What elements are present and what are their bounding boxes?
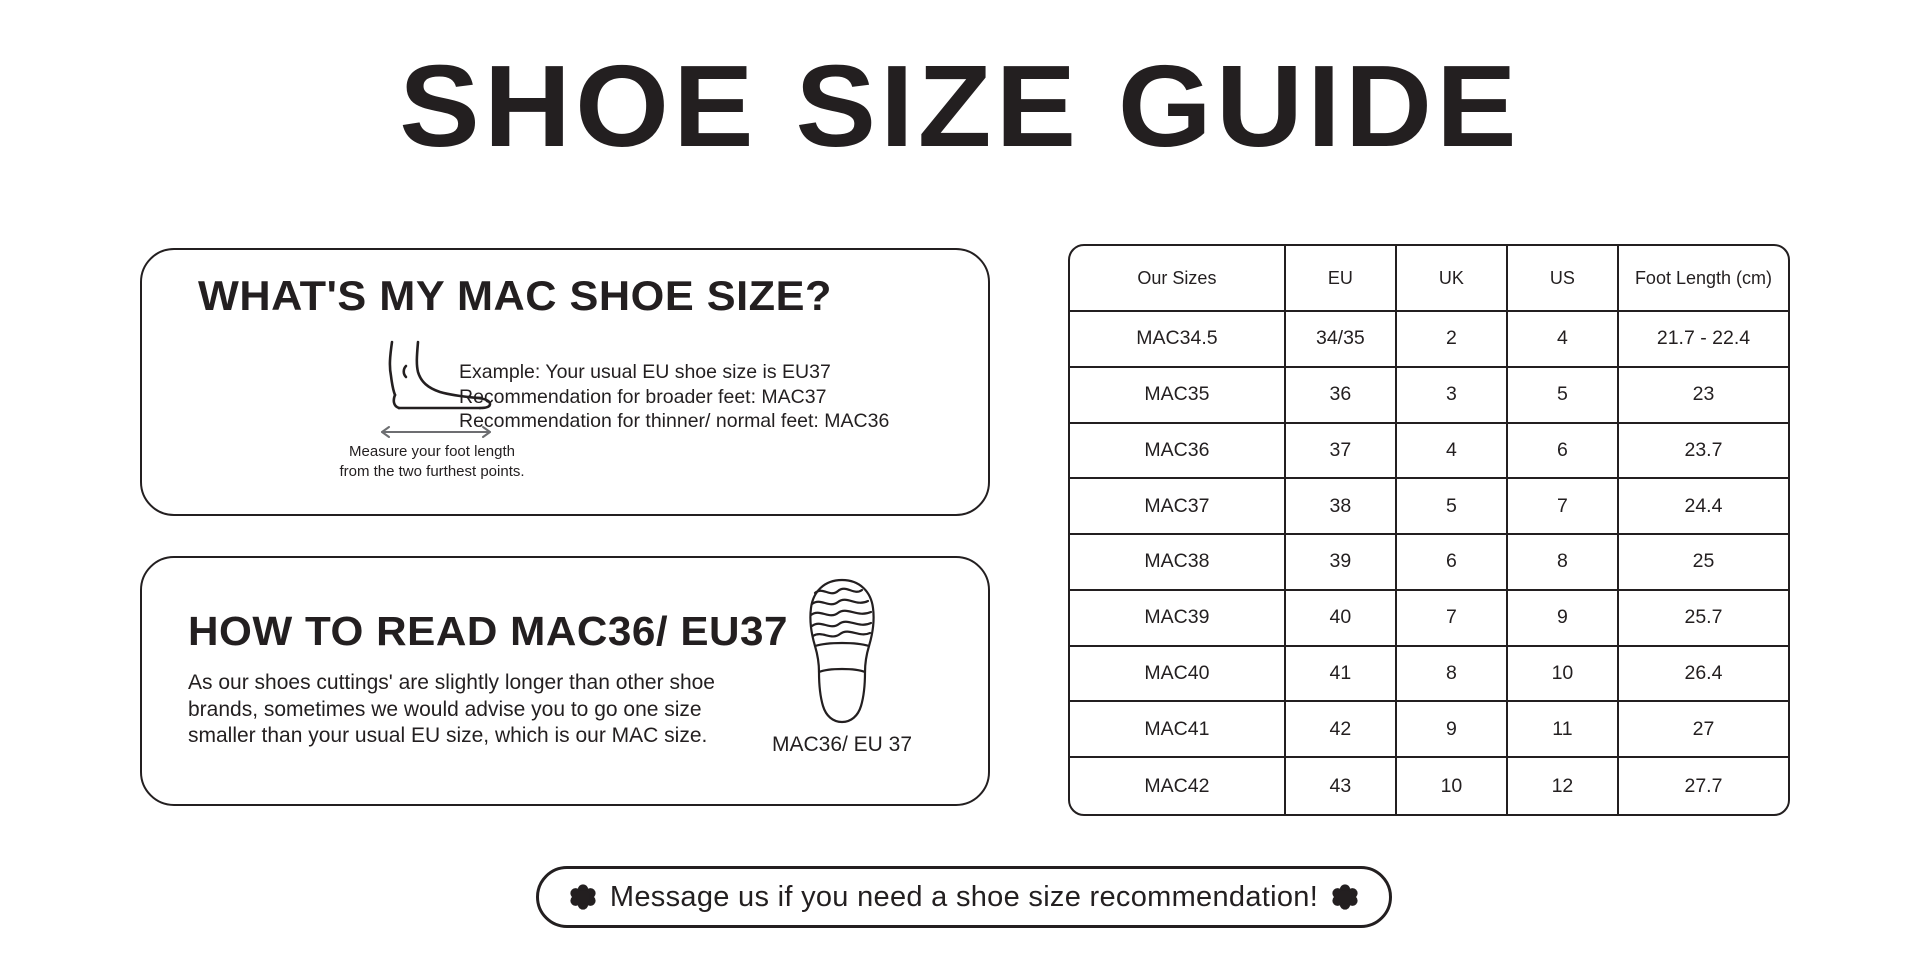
cell-us: 6 (1508, 424, 1619, 480)
panel-read-heading: HOW TO READ MAC36/ EU37 (188, 608, 788, 654)
shoe-size-guide-page: SHOE SIZE GUIDE WHAT'S MY MAC SHOE SIZE? (0, 0, 1920, 960)
flower-icon (570, 884, 596, 910)
cell-foot-length: 24.4 (1619, 479, 1788, 535)
cell-uk: 6 (1397, 535, 1508, 591)
cell-eu: 37 (1286, 424, 1397, 480)
cell-uk: 9 (1397, 702, 1508, 758)
cell-foot-length: 23 (1619, 368, 1788, 424)
column-header-uk: UK (1397, 246, 1508, 312)
page-title: SHOE SIZE GUIDE (0, 46, 1920, 166)
cell-our-size: MAC36 (1070, 424, 1286, 480)
foot-measure-caption: Measure your foot length from the two fu… (337, 442, 527, 482)
cell-uk: 8 (1397, 647, 1508, 703)
size-chart-container: Our Sizes EU UK US Foot Length (cm) MAC3… (1068, 244, 1790, 816)
cell-foot-length: 25.7 (1619, 591, 1788, 647)
cell-uk: 3 (1397, 368, 1508, 424)
panel-size-heading: WHAT'S MY MAC SHOE SIZE? (198, 272, 832, 320)
table-header-row: Our Sizes EU UK US Foot Length (cm) (1070, 246, 1788, 312)
cell-eu: 41 (1286, 647, 1397, 703)
size-chart-table: Our Sizes EU UK US Foot Length (cm) MAC3… (1068, 244, 1790, 816)
cell-eu: 36 (1286, 368, 1397, 424)
column-header-our-sizes: Our Sizes (1070, 246, 1286, 312)
flower-icon (1332, 884, 1358, 910)
panel-read-body: As our shoes cuttings' are slightly long… (188, 670, 733, 750)
cell-us: 9 (1508, 591, 1619, 647)
cell-foot-length: 27 (1619, 702, 1788, 758)
cell-our-size: MAC35 (1070, 368, 1286, 424)
cell-eu: 39 (1286, 535, 1397, 591)
cell-uk: 10 (1397, 758, 1508, 814)
cell-us: 8 (1508, 535, 1619, 591)
cell-uk: 7 (1397, 591, 1508, 647)
cell-eu: 43 (1286, 758, 1397, 814)
column-header-eu: EU (1286, 246, 1397, 312)
cell-our-size: MAC40 (1070, 647, 1286, 703)
cell-our-size: MAC39 (1070, 591, 1286, 647)
table-row: MAC39 40 7 9 25.7 (1070, 591, 1788, 647)
table-row: MAC38 39 6 8 25 (1070, 535, 1788, 591)
cell-uk: 2 (1397, 312, 1508, 368)
column-header-us: US (1508, 246, 1619, 312)
cell-us: 5 (1508, 368, 1619, 424)
cell-uk: 4 (1397, 424, 1508, 480)
cell-our-size: MAC37 (1070, 479, 1286, 535)
cell-us: 12 (1508, 758, 1619, 814)
table-row: MAC34.5 34/35 2 4 21.7 - 22.4 (1070, 312, 1788, 368)
cell-foot-length: 21.7 - 22.4 (1619, 312, 1788, 368)
panel-whats-my-mac-shoe-size: WHAT'S MY MAC SHOE SIZE? (140, 248, 990, 516)
cell-our-size: MAC38 (1070, 535, 1286, 591)
cell-uk: 5 (1397, 479, 1508, 535)
cell-us: 11 (1508, 702, 1619, 758)
table-row: MAC42 43 10 12 27.7 (1070, 758, 1788, 814)
table-row: MAC36 37 4 6 23.7 (1070, 424, 1788, 480)
message-us-text: Message us if you need a shoe size recom… (610, 880, 1318, 914)
cell-our-size: MAC34.5 (1070, 312, 1286, 368)
cell-our-size: MAC42 (1070, 758, 1286, 814)
panel-how-to-read: HOW TO READ MAC36/ EU37 As our shoes cut… (140, 556, 990, 806)
table-row: MAC41 42 9 11 27 (1070, 702, 1788, 758)
shoe-sole-icon (800, 576, 884, 726)
cell-us: 4 (1508, 312, 1619, 368)
table-row: MAC35 36 3 5 23 (1070, 368, 1788, 424)
cell-our-size: MAC41 (1070, 702, 1286, 758)
cell-foot-length: 25 (1619, 535, 1788, 591)
cell-foot-length: 23.7 (1619, 424, 1788, 480)
cell-us: 7 (1508, 479, 1619, 535)
cell-eu: 40 (1286, 591, 1397, 647)
cell-eu: 42 (1286, 702, 1397, 758)
message-us-banner[interactable]: Message us if you need a shoe size recom… (536, 866, 1392, 928)
cell-foot-length: 26.4 (1619, 647, 1788, 703)
table-row: MAC37 38 5 7 24.4 (1070, 479, 1788, 535)
table-row: MAC40 41 8 10 26.4 (1070, 647, 1788, 703)
sole-label: MAC36/ EU 37 (742, 732, 942, 758)
column-header-foot-length: Foot Length (cm) (1619, 246, 1788, 312)
cell-foot-length: 27.7 (1619, 758, 1788, 814)
cell-eu: 34/35 (1286, 312, 1397, 368)
shoe-sole-diagram: MAC36/ EU 37 (742, 576, 942, 758)
cell-us: 10 (1508, 647, 1619, 703)
cell-eu: 38 (1286, 479, 1397, 535)
example-recommendation-text: Example: Your usual EU shoe size is EU37… (459, 360, 889, 434)
